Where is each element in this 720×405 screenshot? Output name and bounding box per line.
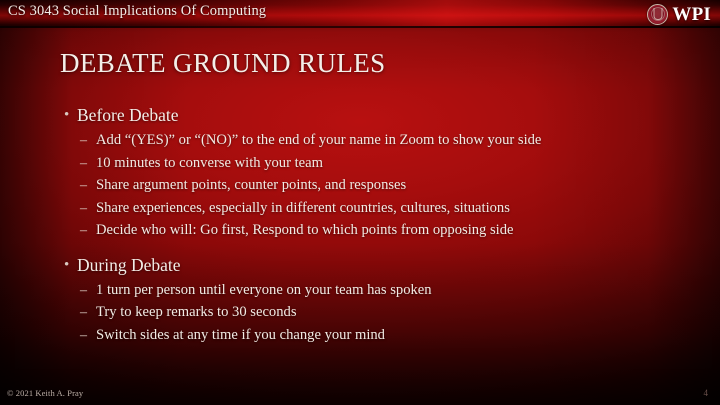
dash-bullet-icon: – xyxy=(80,325,96,347)
content-section: • During Debate – 1 turn per person unti… xyxy=(62,254,702,347)
slide-title: DEBATE GROUND RULES xyxy=(60,48,386,79)
wpi-wordmark: WPI xyxy=(672,5,711,24)
bullet-dot-icon: • xyxy=(62,104,77,127)
list-item: – Share experiences, especially in diffe… xyxy=(62,198,702,220)
list-item: – 10 minutes to converse with your team xyxy=(62,153,702,175)
list-item: – Share argument points, counter points,… xyxy=(62,175,702,197)
wpi-logo: WPI xyxy=(647,2,711,26)
list-item-text: Add “(YES)” or “(NO)” to the end of your… xyxy=(96,130,541,152)
wpi-seal-icon xyxy=(647,4,668,25)
list-item: – 1 turn per person until everyone on yo… xyxy=(62,280,702,302)
list-item-text: Decide who will: Go first, Respond to wh… xyxy=(96,220,514,242)
section-spacer xyxy=(62,243,702,254)
dash-bullet-icon: – xyxy=(80,175,96,197)
dash-bullet-icon: – xyxy=(80,153,96,175)
list-item: – Try to keep remarks to 30 seconds xyxy=(62,302,702,324)
slide-number: 4 xyxy=(704,388,709,398)
list-item-text: Share experiences, especially in differe… xyxy=(96,198,510,220)
dash-bullet-icon: – xyxy=(80,130,96,152)
list-item-text: Try to keep remarks to 30 seconds xyxy=(96,302,297,324)
dash-bullet-icon: – xyxy=(80,280,96,302)
slide-header-band: CS 3043 Social Implications Of Computing… xyxy=(0,0,720,28)
section-heading: Before Debate xyxy=(77,104,179,127)
list-item: – Add “(YES)” or “(NO)” to the end of yo… xyxy=(62,130,702,152)
list-item: – Switch sides at any time if you change… xyxy=(62,325,702,347)
list-item-text: Share argument points, counter points, a… xyxy=(96,175,406,197)
presentation-slide: CS 3043 Social Implications Of Computing… xyxy=(0,0,720,405)
dash-bullet-icon: – xyxy=(80,220,96,242)
bullet-dot-icon: • xyxy=(62,254,77,277)
list-item: – Decide who will: Go first, Respond to … xyxy=(62,220,702,242)
list-item-text: 10 minutes to converse with your team xyxy=(96,153,323,175)
list-item-text: Switch sides at any time if you change y… xyxy=(96,325,385,347)
dash-bullet-icon: – xyxy=(80,302,96,324)
section-heading-row: • Before Debate xyxy=(62,104,702,127)
section-heading: During Debate xyxy=(77,254,181,277)
slide-body: • Before Debate – Add “(YES)” or “(NO)” … xyxy=(62,104,702,347)
list-item-text: 1 turn per person until everyone on your… xyxy=(96,280,432,302)
copyright-notice: © 2021 Keith A. Pray xyxy=(7,388,83,398)
content-section: • Before Debate – Add “(YES)” or “(NO)” … xyxy=(62,104,702,242)
course-title: CS 3043 Social Implications Of Computing xyxy=(8,3,266,20)
section-heading-row: • During Debate xyxy=(62,254,702,277)
dash-bullet-icon: – xyxy=(80,198,96,220)
